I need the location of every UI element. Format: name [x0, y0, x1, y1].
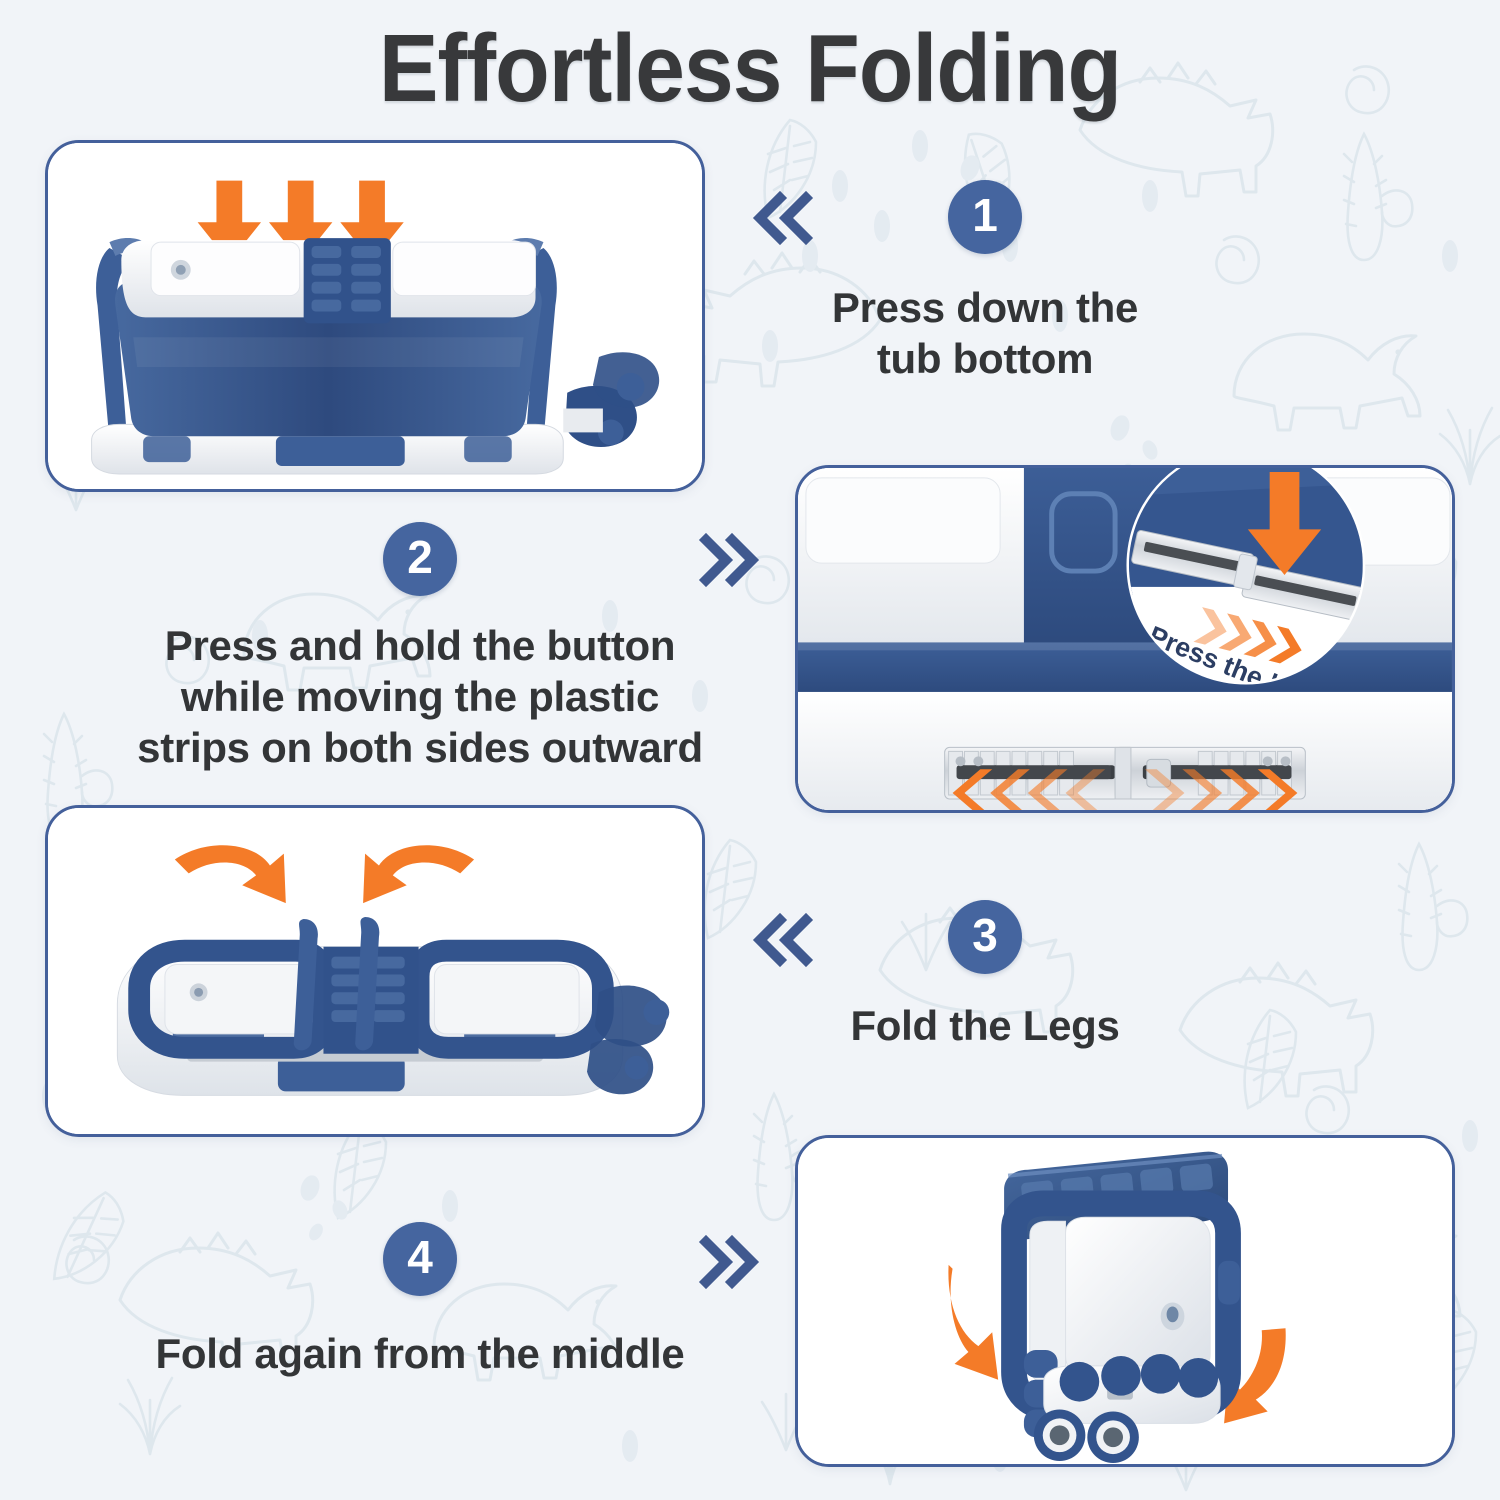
step-3-number: 3	[972, 912, 998, 958]
step-1: 1 Press down the tub bottom	[760, 180, 1210, 384]
step-1-badge: 1	[948, 180, 1022, 254]
step-2: 2 Press and hold the button while moving…	[90, 522, 750, 774]
step-4-photo-card	[795, 1135, 1455, 1467]
step-4: 4 Fold again from the middle	[90, 1222, 750, 1379]
step-3-photo-card	[45, 805, 705, 1137]
step-3: 3 Fold the Legs	[760, 900, 1210, 1051]
step-1-photo-card	[45, 140, 705, 492]
step-2-photo-card: Press the button	[795, 465, 1455, 813]
chevron-double-left-icon	[750, 910, 816, 970]
step-4-number: 4	[407, 1234, 433, 1280]
step-3-badge: 3	[948, 900, 1022, 974]
step-4-label: Fold again from the middle	[90, 1328, 750, 1379]
step-3-photo	[48, 808, 702, 1137]
step-4-badge: 4	[383, 1222, 457, 1296]
chevron-double-right-icon	[694, 530, 760, 590]
step-1-number: 1	[972, 192, 998, 238]
page-title: Effortless Folding	[53, 14, 1448, 124]
step-2-badge: 2	[383, 522, 457, 596]
step-2-number: 2	[407, 534, 433, 580]
step-2-label: Press and hold the button while moving t…	[90, 620, 750, 774]
step-2-photo: Press the button	[798, 468, 1452, 813]
step-1-label: Press down the tub bottom	[760, 282, 1210, 384]
step-1-photo	[48, 143, 702, 492]
step-4-photo	[798, 1138, 1452, 1467]
chevron-double-left-icon	[750, 188, 816, 248]
step-3-label: Fold the Legs	[760, 1000, 1210, 1051]
chevron-double-right-icon	[694, 1232, 760, 1292]
